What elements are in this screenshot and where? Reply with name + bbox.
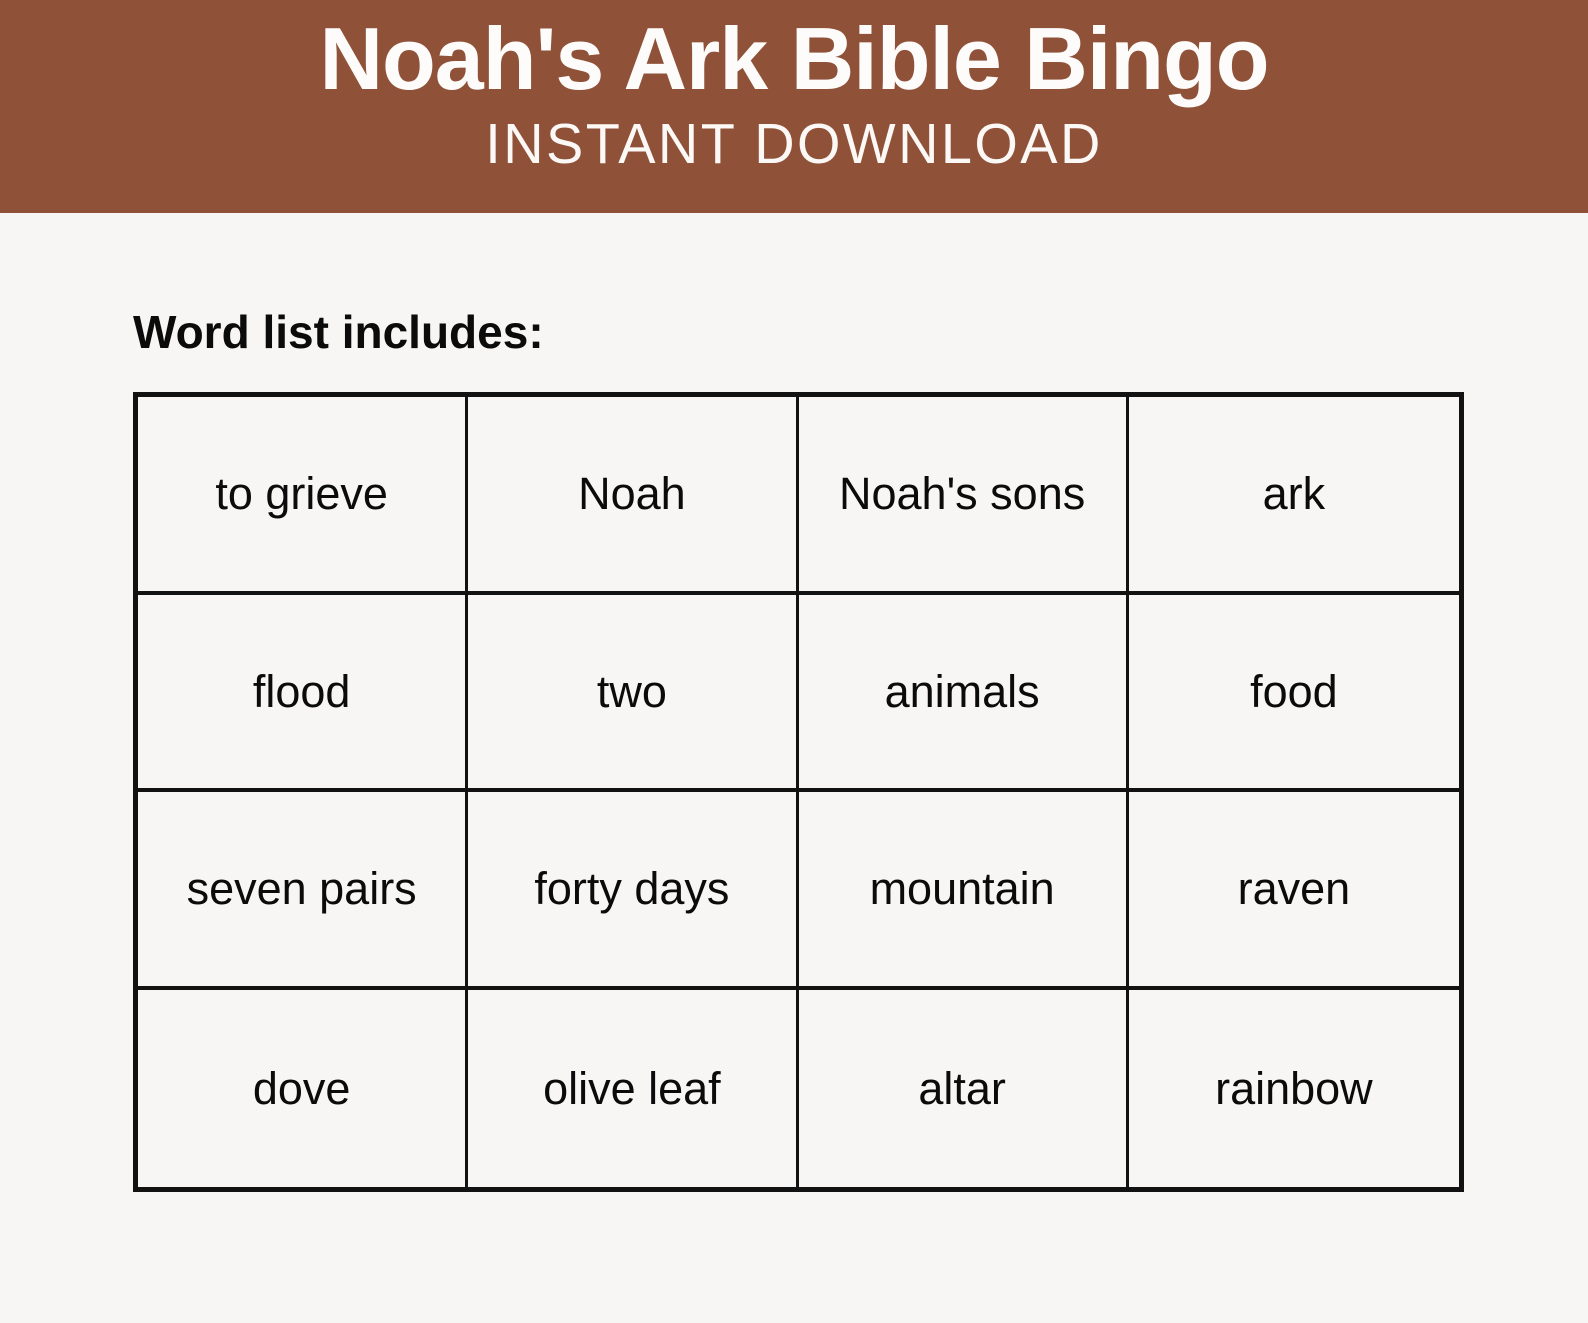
- word-cell: Noah's sons: [799, 397, 1129, 595]
- word-cell: ark: [1129, 397, 1459, 595]
- word-cell: raven: [1129, 792, 1459, 990]
- word-cell: seven pairs: [138, 792, 468, 990]
- word-cell: dove: [138, 990, 468, 1188]
- word-cell: altar: [799, 990, 1129, 1188]
- word-cell: mountain: [799, 792, 1129, 990]
- word-cell: animals: [799, 595, 1129, 793]
- word-cell: rainbow: [1129, 990, 1459, 1188]
- word-cell: forty days: [468, 792, 798, 990]
- page-title: Noah's Ark Bible Bingo: [319, 14, 1268, 104]
- word-list-table: to grieve Noah Noah's sons ark flood two…: [133, 392, 1464, 1192]
- word-cell: flood: [138, 595, 468, 793]
- word-cell: Noah: [468, 397, 798, 595]
- word-cell: olive leaf: [468, 990, 798, 1188]
- word-cell: food: [1129, 595, 1459, 793]
- header-banner: Noah's Ark Bible Bingo INSTANT DOWNLOAD: [0, 0, 1588, 213]
- word-list-heading: Word list includes:: [133, 305, 544, 359]
- word-cell: two: [468, 595, 798, 793]
- word-cell: to grieve: [138, 397, 468, 595]
- page-subtitle: INSTANT DOWNLOAD: [485, 104, 1103, 173]
